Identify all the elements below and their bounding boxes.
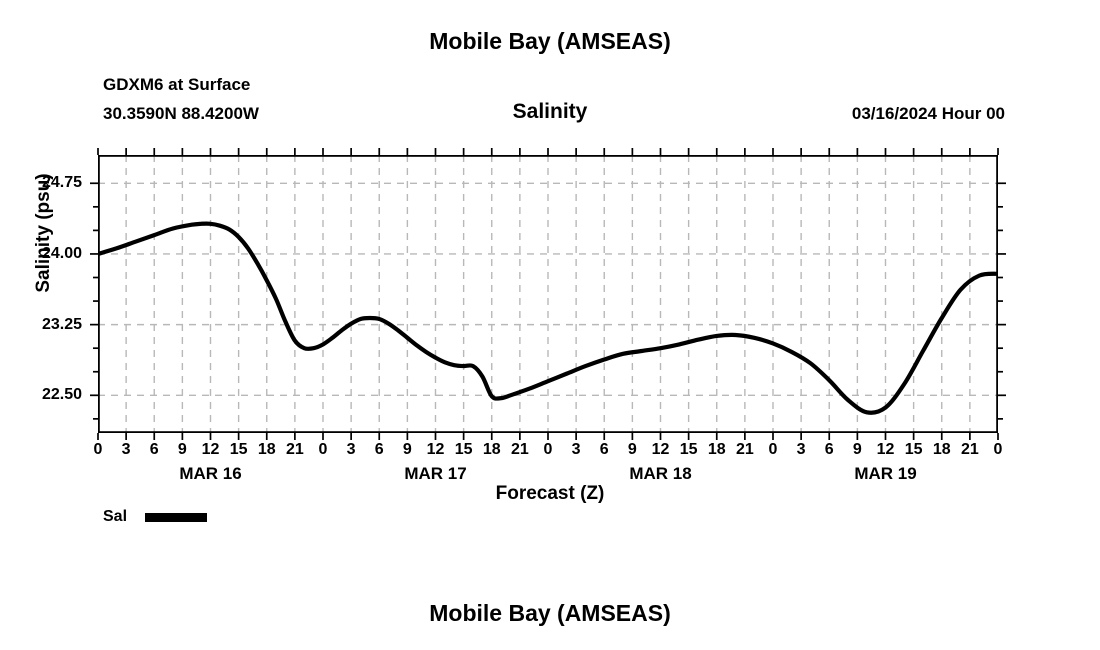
axis-tick-marks	[90, 147, 1006, 446]
x-axis-day-label: MAR 17	[404, 464, 466, 484]
y-tick-label: 24.75	[42, 174, 82, 192]
legend-line-swatch	[145, 513, 207, 522]
y-tick-label: 24.00	[42, 245, 82, 263]
page-title-top: Mobile Bay (AMSEAS)	[0, 28, 1100, 55]
model-run-label: 03/16/2024 Hour 00	[852, 104, 1005, 124]
y-axis-tick-labels: 24.7524.0023.2522.50	[0, 155, 92, 433]
x-axis-day-label: MAR 19	[854, 464, 916, 484]
station-label: GDXM6 at Surface	[103, 75, 250, 95]
page-title-bottom: Mobile Bay (AMSEAS)	[0, 600, 1100, 627]
legend-item-label: Sal	[103, 508, 127, 526]
chart-legend: Sal	[103, 508, 207, 526]
y-tick-label: 23.25	[42, 316, 82, 334]
x-axis-day-label: MAR 18	[629, 464, 691, 484]
x-axis-label: Forecast (Z)	[0, 483, 1100, 505]
salinity-forecast-chart-page: Mobile Bay (AMSEAS) GDXM6 at Surface 30.…	[0, 0, 1100, 650]
y-tick-label: 22.50	[42, 386, 82, 404]
x-axis-day-label: MAR 16	[179, 464, 241, 484]
